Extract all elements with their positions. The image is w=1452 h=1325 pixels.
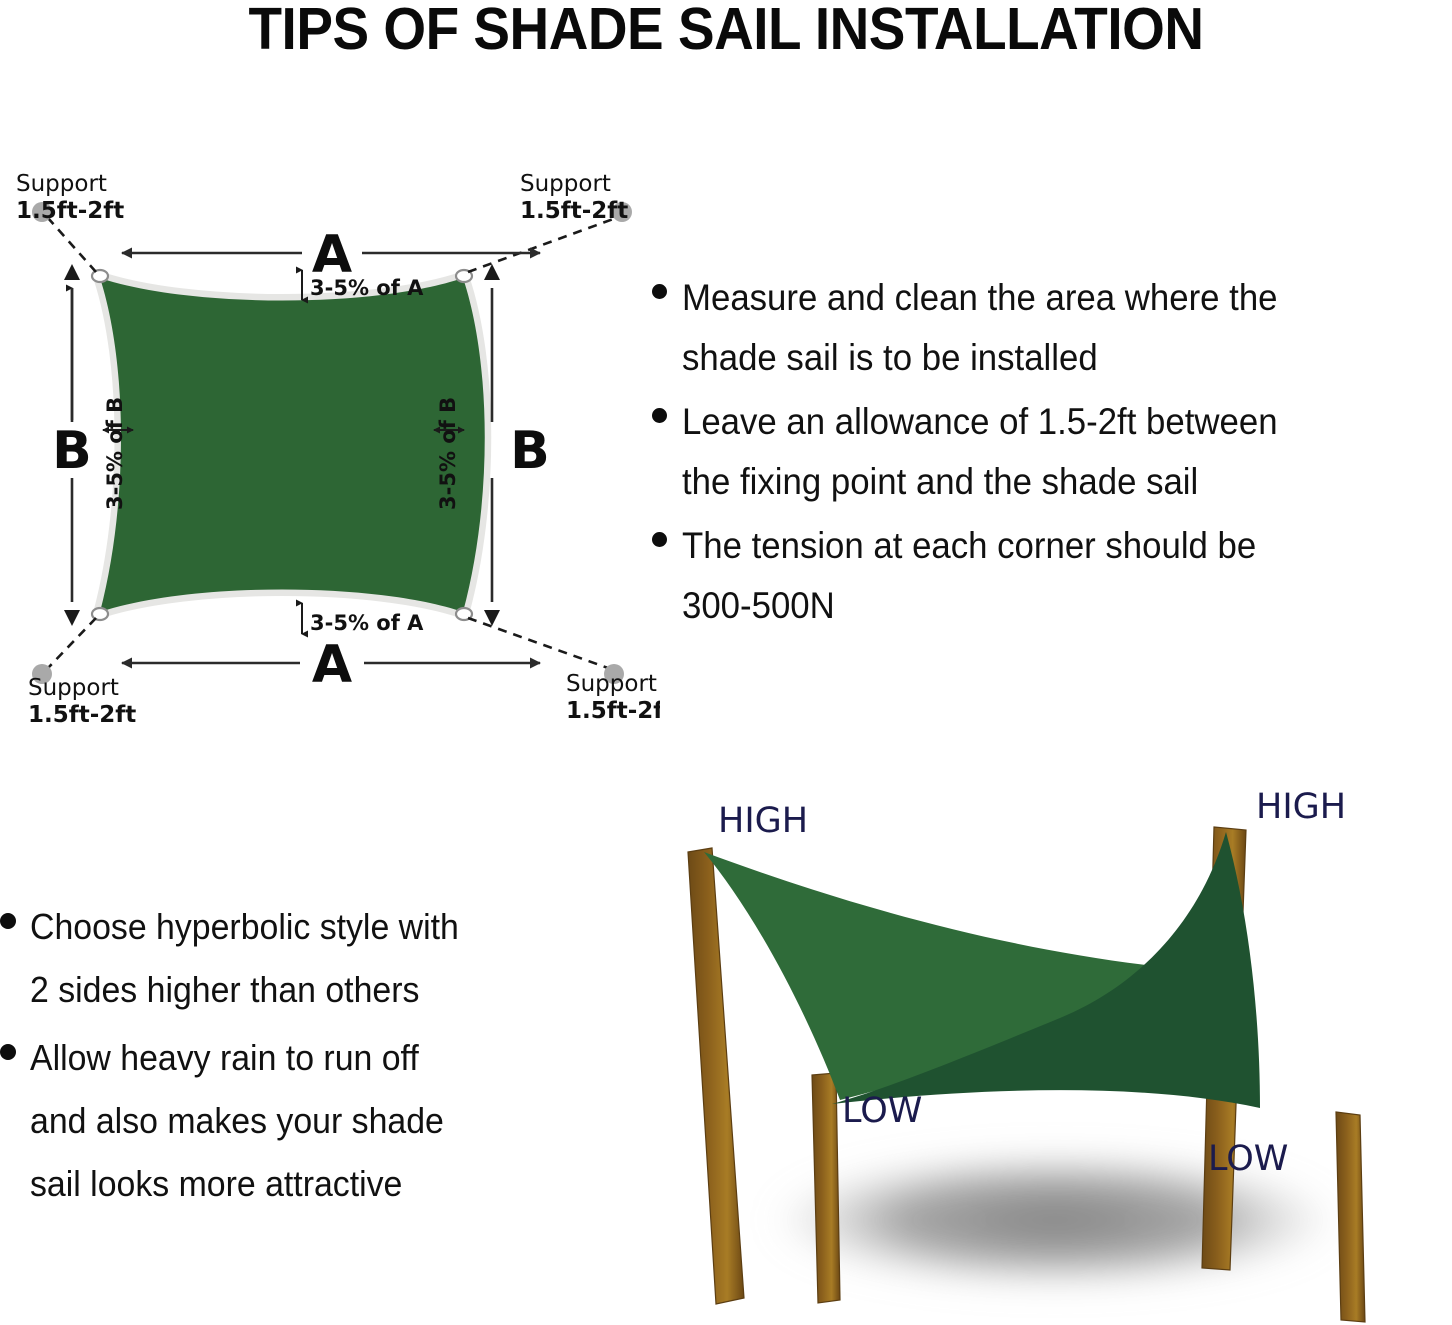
- curve-note-label-top: 3-5% of A: [310, 276, 424, 300]
- support-label-top-left-line1: Support: [16, 171, 107, 197]
- label-high-left: HIGH: [718, 801, 808, 841]
- support-label-top-right-line1: Support: [520, 171, 611, 197]
- tip-text: Measure and clean the area where the sha…: [682, 268, 1278, 388]
- curve-note-bottom: 3-5% of A: [302, 603, 424, 635]
- bullet-icon: [0, 913, 16, 929]
- tip-text: Leave an allowance of 1.5-2ft between th…: [682, 392, 1278, 512]
- support-label-bottom-right-line2: 1.5ft-2ft: [566, 698, 660, 724]
- list-item: Measure and clean the area where the sha…: [652, 268, 1452, 388]
- list-item: Allow heavy rain to run off and also mak…: [0, 1026, 620, 1216]
- support-line-bottom-right: [468, 618, 608, 668]
- rectangular-sail-diagram: Support 1.5ft-2ft Support 1.5ft-2ft Supp…: [0, 160, 660, 740]
- dimension-label-b-right: B: [510, 421, 550, 481]
- support-label-top-right-line2: 1.5ft-2ft: [520, 198, 628, 224]
- tip-text: Allow heavy rain to run off and also mak…: [30, 1026, 444, 1216]
- installation-tips-primary: Measure and clean the area where the sha…: [652, 268, 1452, 640]
- dimension-b-right: B: [484, 264, 550, 626]
- curve-note-label-right: 3-5% of B: [436, 397, 460, 510]
- bullet-icon: [0, 1044, 16, 1060]
- curve-note-label-bottom: 3-5% of A: [310, 611, 424, 635]
- tip-text: Choose hyperbolic style with 2 sides hig…: [30, 895, 459, 1022]
- bullet-icon: [652, 408, 667, 423]
- shade-sail-surface: [100, 278, 485, 612]
- dimension-a-bottom: A: [122, 635, 540, 695]
- tip-text: The tension at each corner should be 300…: [682, 516, 1256, 636]
- label-high-right: HIGH: [1256, 787, 1346, 827]
- post-low-left: [812, 1073, 840, 1303]
- dimension-label-b-left: B: [52, 421, 92, 481]
- bullet-icon: [652, 532, 667, 547]
- list-item: Choose hyperbolic style with 2 sides hig…: [0, 895, 620, 1022]
- post-low-right: [1336, 1112, 1365, 1322]
- list-item: The tension at each corner should be 300…: [652, 516, 1452, 636]
- support-label-bottom-left-line1: Support: [28, 675, 119, 701]
- support-label-bottom-left-line2: 1.5ft-2ft: [28, 702, 136, 728]
- list-item: Leave an allowance of 1.5-2ft between th…: [652, 392, 1452, 512]
- hyperbolic-sail-diagram: HIGH HIGH LOW LOW: [660, 770, 1452, 1325]
- dimension-label-a-bottom: A: [312, 635, 352, 695]
- page-title: TIPS OF SHADE SAIL INSTALLATION: [51, 0, 1401, 64]
- curve-note-right: 3-5% of B: [434, 397, 464, 510]
- post-high-left: [688, 848, 744, 1304]
- curve-note-label-left: 3-5% of B: [103, 397, 127, 510]
- label-low-right: LOW: [1208, 1139, 1288, 1179]
- support-label-bottom-right-line1: Support: [566, 671, 657, 697]
- support-label-top-left-line2: 1.5ft-2ft: [16, 198, 124, 224]
- support-line-top-right: [468, 218, 616, 272]
- support-line-top-left: [48, 218, 96, 272]
- dimension-b-left: B: [52, 264, 92, 626]
- bullet-icon: [652, 284, 667, 299]
- installation-tips-secondary: Choose hyperbolic style with 2 sides hig…: [0, 895, 620, 1220]
- label-low-left: LOW: [842, 1091, 922, 1131]
